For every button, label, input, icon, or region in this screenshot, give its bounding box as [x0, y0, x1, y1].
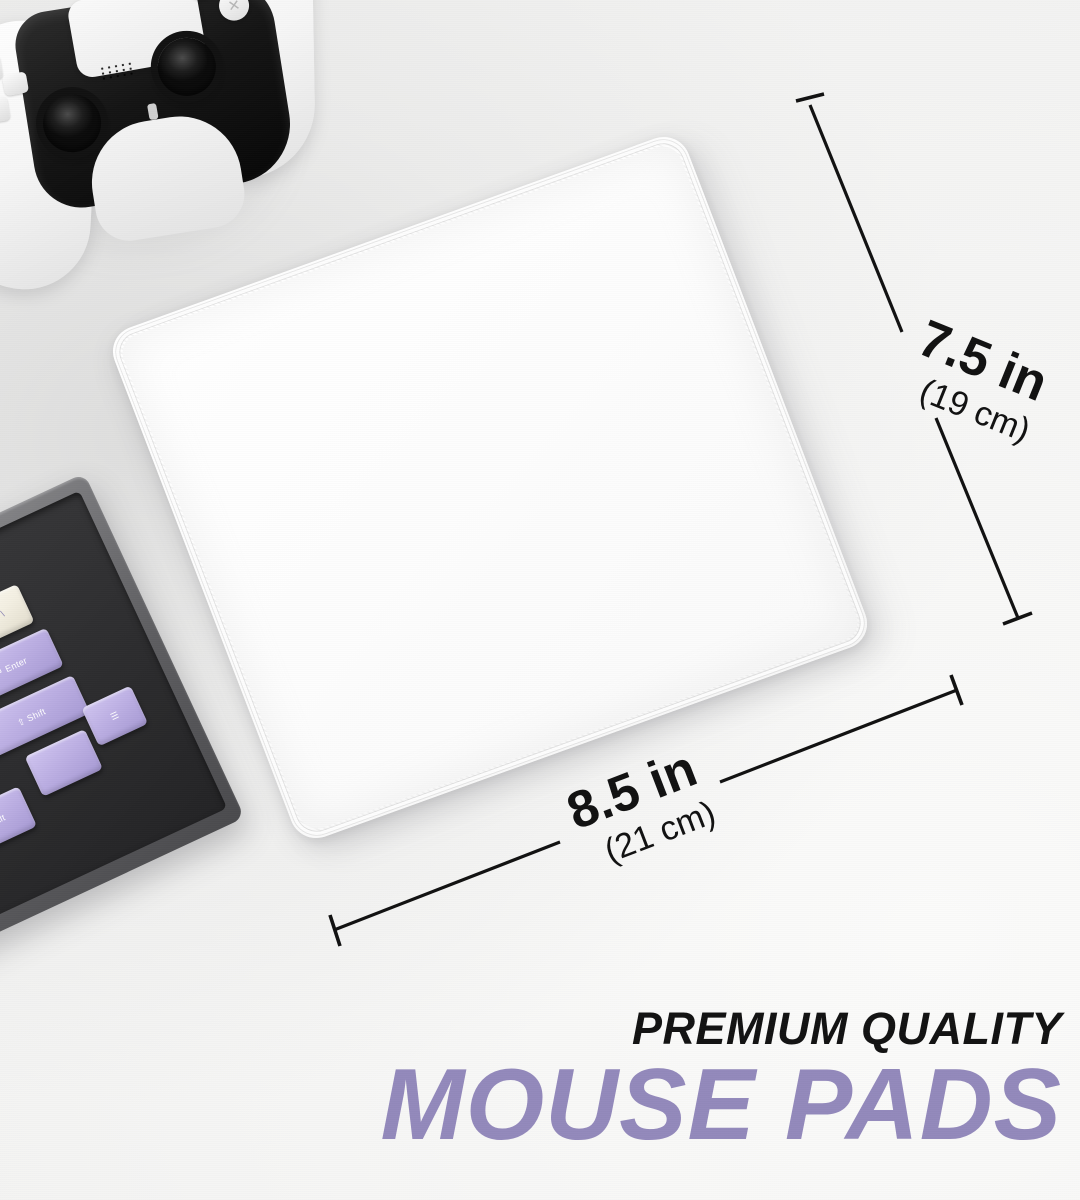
height-line-lower [936, 418, 1018, 618]
headline-block: PREMIUM QUALITY MOUSE PADS [0, 1006, 1080, 1156]
height-label-group: 7.5 in (19 cm) [896, 309, 1058, 450]
headline-title: MOUSE PADS [0, 1055, 1062, 1156]
height-line-upper [810, 105, 902, 332]
headline-eyebrow: PREMIUM QUALITY [0, 1006, 1062, 1051]
width-line-right [720, 690, 957, 782]
height-cap-top [796, 94, 824, 101]
width-line-left [334, 842, 560, 930]
width-label-group: 8.5 in (21 cm) [560, 739, 721, 878]
product-photo-canvas: △ ○ □ ✕ ← Backspace+ =| \} ]{ [↵ Enter" … [0, 0, 1080, 1200]
width-cap-left [330, 915, 340, 946]
